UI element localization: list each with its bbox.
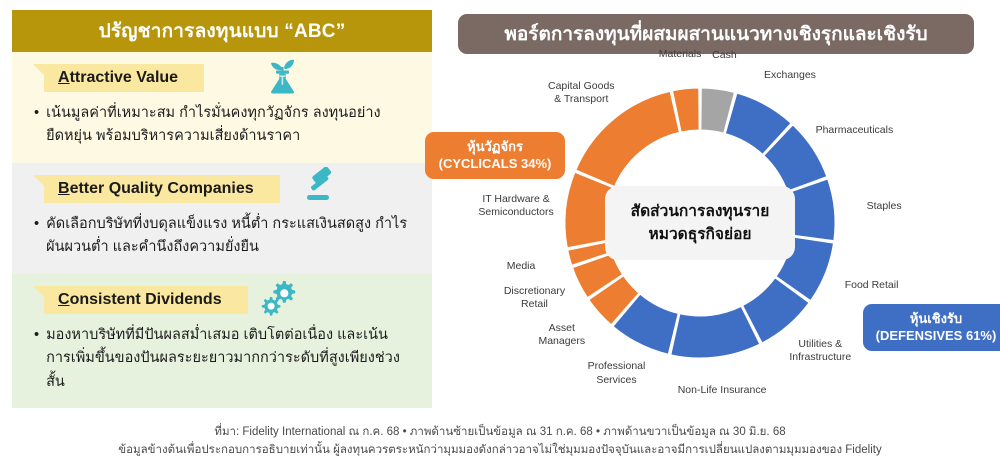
badge-defensives: หุ้นเชิงรับ (DEFENSIVES 61%) xyxy=(863,304,1000,351)
badge-defensives-line1: หุ้นเชิงรับ xyxy=(873,310,999,327)
portfolio-allocation-panel: พอร์ตการลงทุนที่ผสมผสานแนวทางเชิงรุกและเ… xyxy=(440,10,992,420)
center-label-line2: หมวดธุรกิจย่อย xyxy=(649,223,752,246)
badge-cyclicals-line1: หุ้นวัฏจักร xyxy=(435,138,555,155)
donut-slice-label: Food Retail xyxy=(845,279,899,292)
donut-slice-label: Staples xyxy=(867,200,902,213)
bullet-a: • xyxy=(34,102,39,149)
tag-attractive-value: Attractive Value xyxy=(44,64,204,92)
right-panel-title: พอร์ตการลงทุนที่ผสมผสานแนวทางเชิงรุกและเ… xyxy=(504,19,927,49)
tag-consistent-dividends: Consistent Dividends xyxy=(44,286,248,314)
tag-row-a: Attractive Value xyxy=(44,64,418,96)
donut-slice-label: Capital Goods & Transport xyxy=(548,80,615,107)
abc-section-consistent-dividends: Consistent Dividends • มองหาบริษัทที่มีป… xyxy=(12,274,432,408)
bullet-b: • xyxy=(34,213,39,260)
badge-cyclicals: หุ้นวัฏจักร (CYCLICALS 34%) xyxy=(425,132,565,179)
abc-body-b: • คัดเลือกบริษัทที่งบดุลแข็งแรง หนี้ต่ำ … xyxy=(26,211,418,262)
tag-a-rest: ttractive Value xyxy=(70,69,179,86)
badge-defensives-line2: (DEFENSIVES 61%) xyxy=(873,327,999,344)
left-panel-title: ปรัญชาการลงทุนแบบ “ABC” xyxy=(99,16,346,46)
donut-center-label: สัดส่วนการลงทุนราย หมวดธุรกิจย่อย xyxy=(605,186,795,260)
donut-slice-label: Utilities & Infrastructure xyxy=(789,338,851,365)
tag-c-initial: C xyxy=(58,291,70,308)
donut-slice-label: IT Hardware & Semiconductors xyxy=(478,193,553,220)
donut-slice-label: Media xyxy=(507,260,536,273)
tag-a-initial: A xyxy=(58,69,70,86)
abc-body-c: • มองหาบริษัทที่มีปันผลสม่ำเสมอ เติบโตต่… xyxy=(26,322,418,396)
donut-chart: สัดส่วนการลงทุนราย หมวดธุรกิจย่อย หุ้นวั… xyxy=(440,58,992,418)
tag-c-rest: onsistent Dividends xyxy=(70,291,222,308)
donut-slice-label: Pharmaceuticals xyxy=(816,124,894,137)
tag-row-c: Consistent Dividends xyxy=(44,286,418,318)
abc-body-a: • เน้นมูลค่าที่เหมาะสม กำไรมั่นคงทุกวัฏจ… xyxy=(26,100,418,151)
badge-cyclicals-line2: (CYCLICALS 34%) xyxy=(435,155,555,172)
tag-b-initial: B xyxy=(58,180,70,197)
donut-slice-label: Exchanges xyxy=(764,69,816,82)
abc-text-c: มองหาบริษัทที่มีปันผลสม่ำเสมอ เติบโตต่อเ… xyxy=(46,324,412,394)
left-panel-header: ปรัญชาการลงทุนแบบ “ABC” xyxy=(12,10,432,52)
right-panel-header: พอร์ตการลงทุนที่ผสมผสานแนวทางเชิงรุกและเ… xyxy=(458,14,974,54)
gears-icon xyxy=(256,275,300,324)
abc-text-b: คัดเลือกบริษัทที่งบดุลแข็งแรง หนี้ต่ำ กร… xyxy=(46,213,412,260)
footnote-line-2: ข้อมูลข้างต้นเพื่อประกอบการอธิบายเท่านั้… xyxy=(0,442,1000,460)
bullet-c: • xyxy=(34,324,39,394)
donut-slice-label: Non-Life Insurance xyxy=(678,384,767,397)
donut-slice-label: Asset Managers xyxy=(538,322,585,349)
donut-slice-label: Materials xyxy=(659,48,702,61)
abc-section-better-quality: Better Quality Companies • คัดเลือกบริษั… xyxy=(12,163,432,274)
flask-plant-icon xyxy=(260,53,306,104)
footnote-line-1: ที่มา: Fidelity International ณ ก.ค. 68 … xyxy=(0,424,1000,442)
abc-text-a: เน้นมูลค่าที่เหมาะสม กำไรมั่นคงทุกวัฏจัก… xyxy=(46,102,412,149)
tag-better-quality-companies: Better Quality Companies xyxy=(44,175,280,203)
tag-row-b: Better Quality Companies xyxy=(44,175,418,207)
abc-philosophy-panel: ปรัญชาการลงทุนแบบ “ABC” Attractive Value xyxy=(12,10,432,400)
tag-b-rest: etter Quality Companies xyxy=(70,180,254,197)
gavel-icon xyxy=(298,167,342,214)
abc-section-attractive-value: Attractive Value xyxy=(12,52,432,163)
donut-slice xyxy=(671,306,760,358)
donut-slice-label: Professional Services xyxy=(588,360,646,387)
center-label-line1: สัดส่วนการลงทุนราย xyxy=(631,200,770,223)
donut-slice-label: Cash xyxy=(712,49,737,62)
donut-slice-label: Discretionary Retail xyxy=(504,285,565,312)
footnote: ที่มา: Fidelity International ณ ก.ค. 68 … xyxy=(0,424,1000,460)
